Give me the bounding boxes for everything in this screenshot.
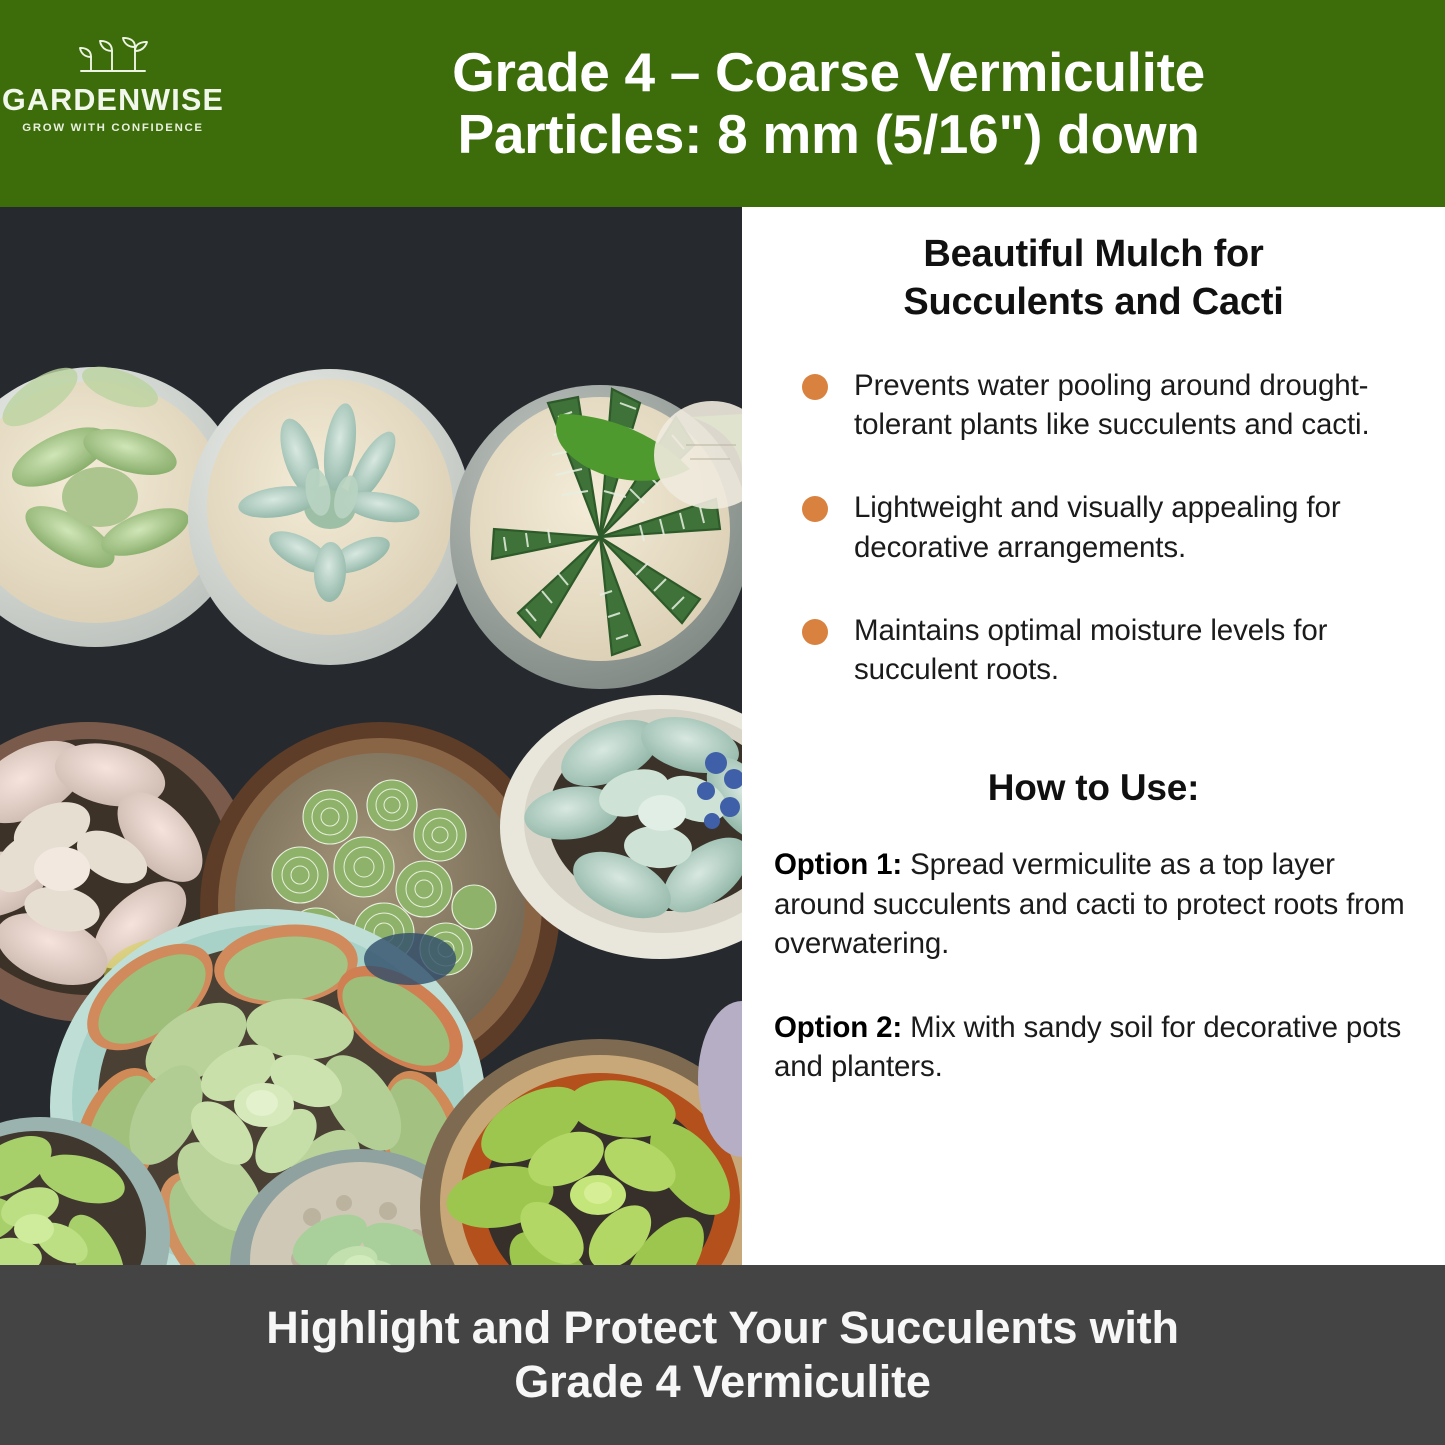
option-1-label: Option 1: xyxy=(774,848,902,881)
footer-line-1: Highlight and Protect Your Succulents wi… xyxy=(266,1301,1179,1355)
header-title-line-2: Particles: 8 mm (5/16") down xyxy=(457,104,1199,166)
list-item: Lightweight and visually appealing for d… xyxy=(802,488,1415,566)
footer-banner: Highlight and Protect Your Succulents wi… xyxy=(0,1265,1445,1445)
panel-heading-line-1: Beautiful Mulch for xyxy=(923,233,1263,275)
panel-heading: Beautiful Mulch for Succulents and Cacti xyxy=(764,225,1423,326)
panel-heading-line-2: Succulents and Cacti xyxy=(903,281,1283,323)
product-infographic: GARDENWISE GROW WITH CONFIDENCE Grade 4 … xyxy=(0,0,1445,1445)
info-panel: Beautiful Mulch for Succulents and Cacti… xyxy=(742,207,1445,1265)
option-2-label: Option 2: xyxy=(774,1011,902,1044)
succulent-arrangement-image xyxy=(0,207,742,1265)
bullet-dot-icon xyxy=(802,374,828,400)
footer-line-2: Grade 4 Vermiculite xyxy=(514,1355,930,1409)
header-title-group: Grade 4 – Coarse Vermiculite Particles: … xyxy=(226,42,1445,165)
brand-tagline: GROW WITH CONFIDENCE xyxy=(22,123,203,134)
bullet-dot-icon xyxy=(802,496,828,522)
header-title-line-1: Grade 4 – Coarse Vermiculite xyxy=(452,42,1205,104)
how-to-use-heading: How to Use: xyxy=(764,767,1423,809)
brand-logo: GARDENWISE GROW WITH CONFIDENCE xyxy=(0,31,226,135)
list-item: Prevents water pooling around drought-to… xyxy=(802,366,1415,444)
sprout-leaves-icon xyxy=(67,35,159,81)
option-1-block: Option 1: Spread vermiculite as a top la… xyxy=(764,845,1423,964)
header-banner: GARDENWISE GROW WITH CONFIDENCE Grade 4 … xyxy=(0,0,1445,207)
list-item: Maintains optimal moisture levels for su… xyxy=(802,611,1415,689)
benefit-text: Prevents water pooling around drought-to… xyxy=(854,366,1415,444)
brand-name: GARDENWISE xyxy=(2,85,224,116)
benefit-text: Maintains optimal moisture levels for su… xyxy=(854,611,1415,689)
benefit-text: Lightweight and visually appealing for d… xyxy=(854,488,1415,566)
bullet-dot-icon xyxy=(802,619,828,645)
product-photo xyxy=(0,207,742,1265)
option-2-block: Option 2: Mix with sandy soil for decora… xyxy=(764,1008,1423,1087)
benefits-list: Prevents water pooling around drought-to… xyxy=(764,366,1423,689)
